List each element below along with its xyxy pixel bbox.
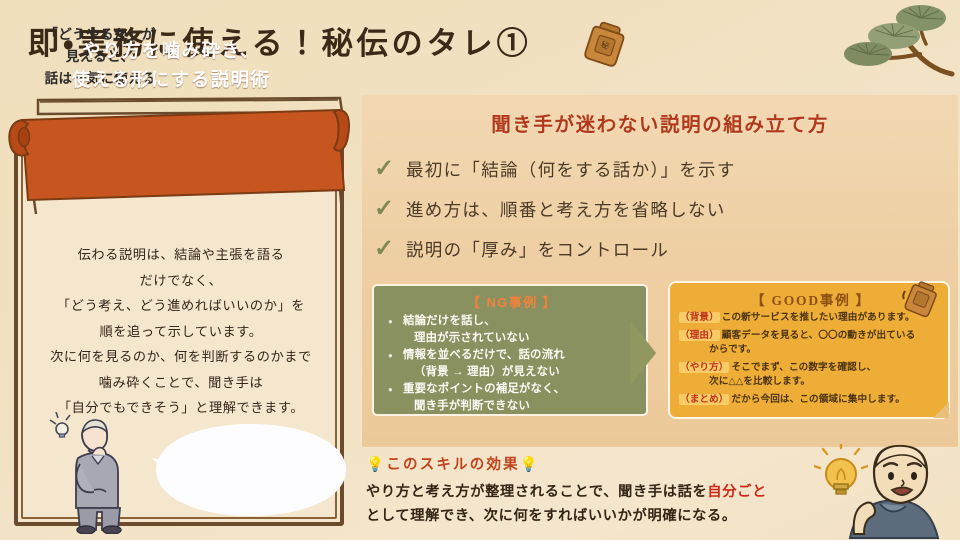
ng-box-title: 【 NG事例 】 [374, 292, 650, 311]
left-body-text: 伝わる説明は、結論や主張を語る だけでなく、 「どう考え、どう進めればいいのか」… [22, 242, 340, 421]
ng-item-main: 結論だけを話し、 [403, 315, 496, 327]
left-body-line: 順を追って示しています。 [22, 319, 340, 345]
checklist-item-1: ✓ 進め方は、順番と考え方を省略しない [374, 190, 954, 228]
ng-item-sub: 聞き手が判断できない [403, 398, 644, 415]
left-body-line: 次に何を見るのか、何を判断するのかまで [22, 344, 340, 370]
scroll-banner [8, 96, 350, 216]
scroll-line-2: 使える形にする説明術 [72, 69, 271, 90]
good-item-tag: （理由） [679, 330, 720, 341]
good-item-text: そこでまず、この数字を確認し、 [731, 362, 876, 373]
check-icon: ✓ [374, 157, 394, 181]
pine-branch-icon [816, 0, 956, 92]
right-panel-heading: 聞き手が迷わない説明の組み立て方 [362, 108, 958, 137]
ng-box-list: 結論だけを話し、 理由が示されていない 情報を並べるだけで、話の流れ （背景 →… [386, 313, 644, 415]
ng-example-box: 【 NG事例 】 結論だけを話し、 理由が示されていない 情報を並べるだけで、話… [372, 284, 648, 416]
effect-line-2: として理解でき、次に何をすればいいかが明確になる。 [366, 504, 866, 528]
checklist-item-2: ✓ 説明の「厚み」をコントロール [374, 230, 954, 268]
good-example-box: 【 GOOD事例 】 （背景）この新サービスを推したい理由があります。 （理由）… [668, 281, 950, 419]
ng-item-main: 情報を並べるだけで、話の流れ [403, 349, 565, 361]
effect-line-1: やり方と考え方が整理されることで、聞き手は話を自分ごと [366, 480, 866, 504]
monk-illustration [840, 436, 960, 540]
good-list-item: （やり方）そこでまず、この数字を確認し、 次に△△を比較します。 [679, 361, 945, 390]
good-list-item: （理由）顧客データを見ると、〇〇の動きが出ている からです。 [679, 329, 945, 358]
check-icon: ✓ [374, 197, 394, 221]
ng-item-main: 重要なポイントの補足がなく、 [403, 383, 565, 395]
speech-bubble [150, 418, 350, 522]
check-icon: ✓ [374, 237, 394, 261]
good-item-text: だから今回は、この領域に集中します。 [731, 394, 905, 405]
left-body-line: だけでなく、 [22, 268, 340, 294]
ng-item-sub: 理由が示されていない [403, 330, 644, 347]
good-item-cont: からです。 [679, 343, 945, 358]
good-item-text: 顧客データを見ると、〇〇の動きが出ている [722, 330, 916, 341]
thinking-businessman-illustration [48, 412, 144, 534]
page-fold-corner [933, 402, 949, 418]
flow-arrow-icon [630, 320, 676, 386]
ng-list-item: 結論だけを話し、 理由が示されていない [386, 313, 644, 346]
scroll-line-1: やり方を噛み砕き、 [82, 40, 260, 61]
good-item-tag: （やり方） [679, 362, 729, 373]
left-body-line: 「どう考え、どう進めればいいのか」を [22, 293, 340, 319]
checklist-item-0: ✓ 最初に「結論（何をする話か）」を示す [374, 150, 954, 188]
good-item-tag: （背景） [679, 312, 720, 323]
slide-root: 即・実務に使える！秘伝のタレ① 秘 伝わ [0, 0, 960, 540]
ng-list-item: 重要なポイントの補足がなく、 聞き手が判断できない [386, 381, 644, 414]
good-list-item: （背景）この新サービスを推したい理由があります。 [679, 311, 945, 326]
ng-list-item: 情報を並べるだけで、話の流れ （背景 → 理由）が見えない [386, 347, 644, 380]
ng-item-sub: （背景 → 理由）が見えない [403, 364, 644, 381]
good-item-tag: （まとめ） [679, 394, 729, 405]
effect-body-text: やり方と考え方が整理されることで、聞き手は話を自分ごと として理解でき、次に何を… [366, 480, 866, 528]
effect-highlight: 自分ごと [707, 484, 767, 500]
checklist-label: 最初に「結論（何をする話か）」を示す [406, 157, 736, 182]
good-box-list: （背景）この新サービスを推したい理由があります。 （理由）顧客データを見ると、〇… [679, 311, 945, 410]
checklist-label: 進め方は、順番と考え方を省略しない [406, 197, 726, 222]
left-body-line: 噛み砕くことで、聞き手は [22, 370, 340, 396]
good-list-item: （まとめ）だから今回は、この領域に集中します。 [679, 393, 945, 408]
effect-line-1-plain: やり方と考え方が整理されることで、聞き手は話を [366, 484, 707, 500]
checklist-label: 説明の「厚み」をコントロール [406, 237, 669, 262]
good-item-text: この新サービスを推したい理由があります。 [722, 312, 915, 323]
good-item-cont: 次に△△を比較します。 [679, 375, 945, 390]
effect-heading: 💡このスキルの効果💡 [366, 453, 540, 474]
sauce-bottle-icon: 秘 [578, 16, 632, 72]
left-body-line: 伝わる説明は、結論や主張を語る [22, 242, 340, 268]
scroll-banner-text: やり方を噛み砕き、 使える形にする説明術 [0, 36, 342, 94]
